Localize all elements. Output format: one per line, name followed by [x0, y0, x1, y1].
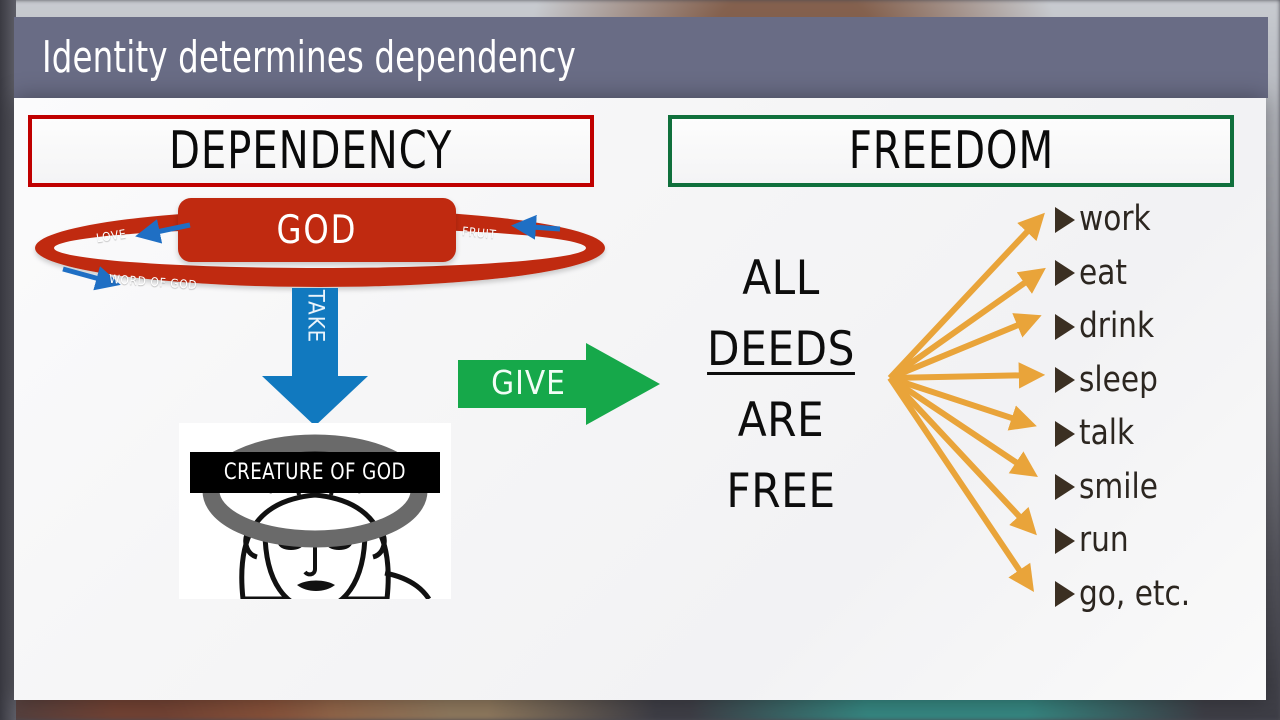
triangle-bullet-icon — [1055, 474, 1075, 500]
triangle-bullet-icon — [1055, 367, 1075, 393]
list-item: run — [1055, 514, 1270, 568]
list-item: talk — [1055, 407, 1270, 461]
triangle-bullet-icon — [1055, 421, 1075, 447]
freedom-list: work eat drink sleep talk smile run go, — [1055, 193, 1270, 621]
triangle-bullet-icon — [1055, 528, 1075, 554]
fan-arrow-6 — [890, 378, 1032, 473]
list-item: sleep — [1055, 354, 1270, 408]
list-item-label: smile — [1079, 470, 1158, 505]
triangle-bullet-icon — [1055, 207, 1075, 233]
list-item-label: drink — [1079, 309, 1154, 344]
list-item: work — [1055, 193, 1270, 247]
fan-arrow-8 — [890, 378, 1030, 586]
fan-arrow-4 — [890, 375, 1038, 378]
list-item-label: work — [1079, 202, 1151, 237]
list-item: eat — [1055, 247, 1270, 301]
list-item: drink — [1055, 300, 1270, 354]
list-item: go, etc. — [1055, 568, 1270, 622]
list-item-label: go, etc. — [1079, 577, 1190, 612]
list-item-label: run — [1079, 523, 1129, 558]
list-item-label: eat — [1079, 256, 1127, 291]
slide-canvas: Identity determines dependency DEPENDENC… — [0, 0, 1280, 720]
triangle-bullet-icon — [1055, 260, 1075, 286]
list-item-label: sleep — [1079, 363, 1158, 398]
fan-arrow-1 — [890, 218, 1040, 378]
list-item: smile — [1055, 461, 1270, 515]
triangle-bullet-icon — [1055, 581, 1075, 607]
list-item-label: talk — [1079, 416, 1134, 451]
triangle-bullet-icon — [1055, 314, 1075, 340]
